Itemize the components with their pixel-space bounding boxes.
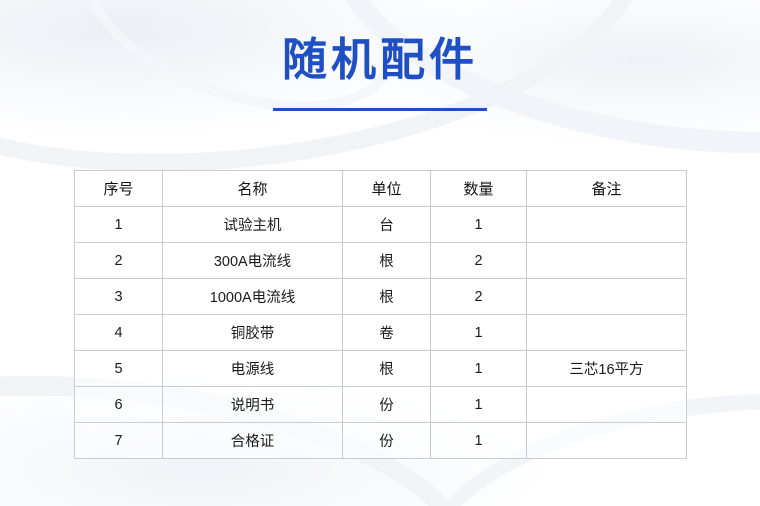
cell-name: 300A电流线 <box>163 243 343 279</box>
cell-no: 6 <box>75 387 163 423</box>
cell-name: 合格证 <box>163 423 343 459</box>
column-header-name: 名称 <box>163 171 343 207</box>
cell-no: 1 <box>75 207 163 243</box>
table-row: 6 说明书 份 1 <box>75 387 687 423</box>
cell-remark <box>527 423 687 459</box>
table-row: 5 电源线 根 1 三芯16平方 <box>75 351 687 387</box>
cell-no: 7 <box>75 423 163 459</box>
poster-page: 随机配件 序号 名称 单位 数量 备注 1 试验主机 台 <box>0 0 760 506</box>
cell-unit: 份 <box>343 423 431 459</box>
cell-qty: 1 <box>431 387 527 423</box>
cell-name: 试验主机 <box>163 207 343 243</box>
cell-no: 2 <box>75 243 163 279</box>
page-title-block: 随机配件 <box>0 34 760 111</box>
cell-remark <box>527 207 687 243</box>
cell-qty: 2 <box>431 243 527 279</box>
cell-remark: 三芯16平方 <box>527 351 687 387</box>
cell-name: 说明书 <box>163 387 343 423</box>
cell-qty: 1 <box>431 315 527 351</box>
table-row: 3 1000A电流线 根 2 <box>75 279 687 315</box>
accessories-table: 序号 名称 单位 数量 备注 1 试验主机 台 1 2 300A电流线 <box>74 170 687 459</box>
cell-name: 1000A电流线 <box>163 279 343 315</box>
cell-qty: 1 <box>431 351 527 387</box>
cell-unit: 根 <box>343 351 431 387</box>
column-header-qty: 数量 <box>431 171 527 207</box>
column-header-no: 序号 <box>75 171 163 207</box>
cell-unit: 台 <box>343 207 431 243</box>
table-row: 4 铜胶带 卷 1 <box>75 315 687 351</box>
cell-remark <box>527 279 687 315</box>
title-underline <box>273 108 487 111</box>
cell-qty: 1 <box>431 423 527 459</box>
table-row: 1 试验主机 台 1 <box>75 207 687 243</box>
cell-remark <box>527 243 687 279</box>
cell-no: 5 <box>75 351 163 387</box>
cell-unit: 卷 <box>343 315 431 351</box>
cell-remark <box>527 315 687 351</box>
accessories-table-wrap: 序号 名称 单位 数量 备注 1 试验主机 台 1 2 300A电流线 <box>74 170 686 459</box>
column-header-remark: 备注 <box>527 171 687 207</box>
table-row: 7 合格证 份 1 <box>75 423 687 459</box>
cell-name: 铜胶带 <box>163 315 343 351</box>
cell-unit: 份 <box>343 387 431 423</box>
cell-qty: 2 <box>431 279 527 315</box>
cell-unit: 根 <box>343 279 431 315</box>
column-header-unit: 单位 <box>343 171 431 207</box>
table-row: 2 300A电流线 根 2 <box>75 243 687 279</box>
page-title: 随机配件 <box>0 34 760 86</box>
cell-no: 3 <box>75 279 163 315</box>
cell-qty: 1 <box>431 207 527 243</box>
cell-no: 4 <box>75 315 163 351</box>
cell-remark <box>527 387 687 423</box>
cell-name: 电源线 <box>163 351 343 387</box>
table-header-row: 序号 名称 单位 数量 备注 <box>75 171 687 207</box>
cell-unit: 根 <box>343 243 431 279</box>
